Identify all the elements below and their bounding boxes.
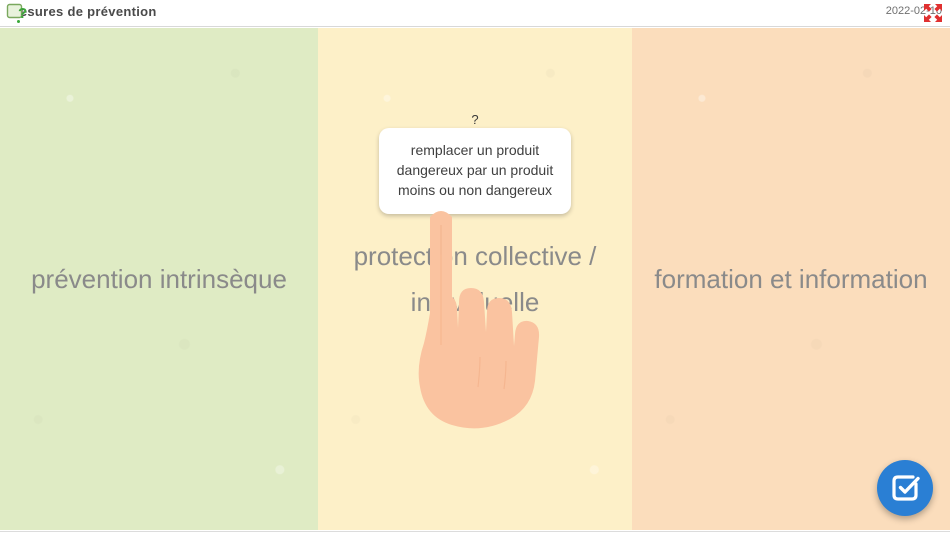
- footer-bar: [0, 531, 950, 538]
- tooltip-container: ? remplacer un produit dangereux par un …: [379, 112, 571, 214]
- app-header: mesures de prévention 2022-02-10: [0, 0, 950, 27]
- help-question-icon[interactable]: ?: [6, 3, 28, 25]
- column-prevention-intrinseque[interactable]: prévention intrinsèque: [0, 28, 318, 530]
- tooltip-text: remplacer un produit dangereux par un pr…: [379, 128, 571, 214]
- page-title: mesures de prévention: [8, 4, 157, 19]
- column-protection-collective-individuelle[interactable]: protection collective / individuelle: [318, 28, 632, 530]
- column-label: prévention intrinsèque: [0, 256, 318, 302]
- columns-board: prévention intrinsèque protection collec…: [0, 28, 950, 530]
- column-label: formation et information: [632, 256, 950, 302]
- validate-checkbox-button[interactable]: [877, 460, 933, 516]
- fullscreen-expand-icon[interactable]: [923, 3, 943, 23]
- svg-text:?: ?: [18, 5, 27, 22]
- column-formation-et-information[interactable]: formation et information: [632, 28, 950, 530]
- column-label: protection collective / individuelle: [318, 233, 632, 325]
- validate-checkbox-icon: [890, 473, 920, 503]
- tooltip-question-marker: ?: [379, 112, 571, 128]
